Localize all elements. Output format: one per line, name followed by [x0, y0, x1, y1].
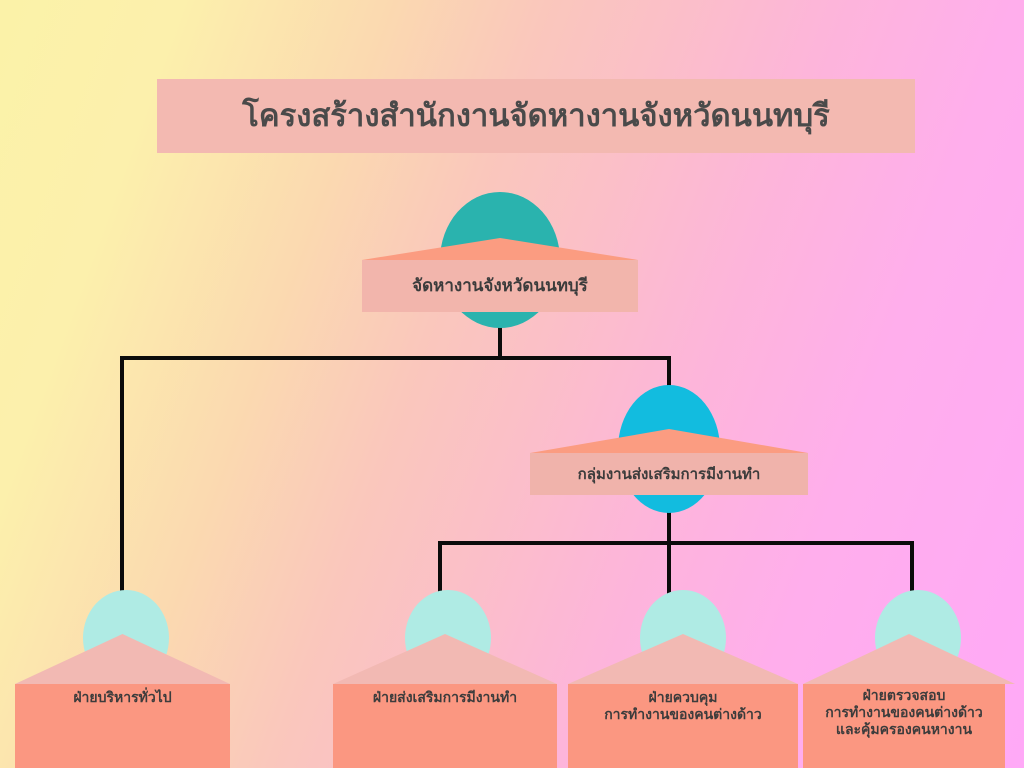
org-node-dept-inspection[interactable]: ฝ่ายตรวจสอบ การทำงานของคนต่างด้าว และคุ้…: [803, 590, 1015, 735]
label-line-2: การทำงานของคนต่างด้าว: [604, 707, 762, 723]
label-line-1: ฝ่ายควบคุม: [649, 690, 718, 706]
org-node-dept-control[interactable]: ฝ่ายควบคุม การทำงานของคนต่างด้าว: [568, 590, 798, 735]
chart-title: โครงสร้างสำนักงานจัดหางานจังหวัดนนทบุรี: [242, 99, 830, 133]
node-body-box: ฝ่ายบริหารทั่วไป: [15, 684, 230, 768]
label-line-2: การทำงานของคนต่างด้าว: [825, 705, 983, 721]
org-node-group-promotion[interactable]: กลุ่มงานส่งเสริมการมีงานทำ: [480, 385, 858, 515]
organization-chart-canvas: โครงสร้างสำนักงานจัดหางานจังหวัดนนทบุรี …: [0, 0, 1024, 768]
node-body-box: ฝ่ายควบคุม การทำงานของคนต่างด้าว: [568, 684, 798, 768]
connector-group-bus: [438, 541, 914, 545]
connector-root-bus: [120, 356, 671, 360]
org-node-dept-promotion[interactable]: ฝ่ายส่งเสริมการมีงานทำ: [333, 590, 557, 735]
node-roof-shape: [803, 634, 1015, 684]
org-node-root[interactable]: จัดหางานจังหวัดนนทบุรี: [300, 192, 700, 322]
org-node-root-label: จัดหางานจังหวัดนนทบุรี: [412, 276, 588, 297]
org-node-group-promotion-label: กลุ่มงานส่งเสริมการมีงานทำ: [578, 465, 761, 483]
connector-root-to-admin: [120, 356, 124, 602]
label-line-1: ฝ่ายตรวจสอบ: [863, 688, 946, 704]
node-label-box: จัดหางานจังหวัดนนทบุรี: [362, 260, 638, 312]
node-label-box: กลุ่มงานส่งเสริมการมีงานทำ: [530, 453, 808, 495]
node-body-box: ฝ่ายส่งเสริมการมีงานทำ: [333, 684, 557, 768]
org-node-dept-control-label: ฝ่ายควบคุม การทำงานของคนต่างด้าว: [604, 690, 762, 724]
node-body-box: ฝ่ายตรวจสอบ การทำงานของคนต่างด้าว และคุ้…: [803, 684, 1005, 768]
label-line-3: และคุ้มครองคนหางาน: [836, 722, 972, 738]
node-roof-shape: [362, 238, 638, 260]
org-node-admin[interactable]: ฝ่ายบริหารทั่วไป: [15, 590, 230, 735]
org-node-admin-label: ฝ่ายบริหารทั่วไป: [73, 690, 171, 707]
node-roof-shape: [15, 634, 230, 684]
chart-title-banner: โครงสร้างสำนักงานจัดหางานจังหวัดนนทบุรี: [157, 79, 915, 153]
node-roof-shape: [333, 634, 557, 684]
node-roof-shape: [530, 429, 808, 453]
org-node-dept-inspection-label: ฝ่ายตรวจสอบ การทำงานของคนต่างด้าว และคุ้…: [825, 688, 983, 739]
org-node-dept-promotion-label: ฝ่ายส่งเสริมการมีงานทำ: [373, 690, 517, 707]
node-roof-shape: [568, 634, 798, 684]
